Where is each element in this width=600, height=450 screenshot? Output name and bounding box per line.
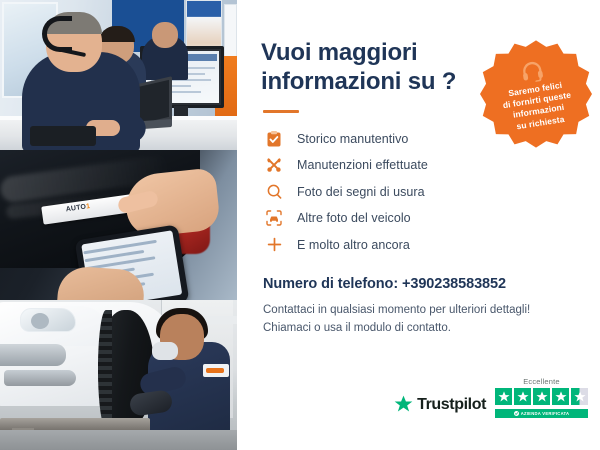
plus-icon — [263, 237, 285, 252]
call-center-photo — [0, 0, 237, 150]
star-filled — [495, 388, 512, 405]
magnifier-icon — [263, 184, 285, 199]
contact-subtext-line-1: Contattaci in qualsiasi momento per ulte… — [263, 304, 530, 316]
trustpilot-brand: Trustpilot — [394, 395, 486, 418]
trustpilot-stars — [495, 388, 588, 405]
request-info-badge: Saremo felici di fornirti queste informa… — [480, 38, 592, 150]
verified-label: AZIENDA VERIFICATA — [521, 411, 570, 416]
feature-label: Foto dei segni di usura — [297, 185, 425, 199]
feature-label: E molto altro ancora — [297, 238, 410, 252]
feature-label: Storico manutentivo — [297, 132, 408, 146]
headline-line-2: informazioni su ? — [261, 68, 456, 95]
feature-item-manutenzioni-effettuate: Manutenzioni effettuate — [263, 152, 578, 179]
page-title: Vuoi maggiori informazioni su ? — [261, 38, 466, 97]
verified-check-icon — [514, 411, 519, 416]
vehicle-sticker-photo: AUTO1 — [0, 150, 237, 300]
contact-subtext-line-2: Chiamaci o usa il modulo di contatto. — [263, 322, 451, 334]
photo-column: AUTO1 — [0, 0, 237, 450]
contact-subtext: Contattaci in qualsiasi momento per ulte… — [263, 302, 578, 338]
star-filled — [552, 388, 569, 405]
headset-icon — [519, 58, 546, 83]
headline-line-1: Vuoi maggiori — [261, 39, 418, 66]
feature-item-molto-altro: E molto altro ancora — [263, 232, 578, 259]
trustpilot-rating-label: Eccellente — [523, 377, 560, 386]
scan-car-icon — [263, 210, 285, 226]
advertisement-card: AUTO1 — [0, 0, 600, 450]
trustpilot-widget[interactable]: Trustpilot Eccellente — [394, 377, 588, 418]
star-filled — [533, 388, 550, 405]
clipboard-check-icon — [263, 131, 285, 147]
phone-number[interactable]: +390238583852 — [402, 276, 506, 292]
content-panel: Vuoi maggiori informazioni su ? Saremo f… — [237, 0, 600, 450]
trustpilot-star-icon — [394, 395, 413, 414]
title-divider — [263, 110, 299, 113]
feature-label: Manutenzioni effettuate — [297, 158, 428, 172]
star-filled — [514, 388, 531, 405]
feature-item-foto-segni-usura: Foto dei segni di usura — [263, 179, 578, 206]
tools-cross-icon — [263, 157, 285, 173]
wheel-service-photo — [0, 300, 237, 450]
phone-number-line: Numero di telefono: +390238583852 — [263, 276, 578, 292]
feature-item-altre-foto-veicolo: Altre foto del veicolo — [263, 205, 578, 232]
verified-business-badge: AZIENDA VERIFICATA — [495, 409, 588, 418]
trustpilot-rating-block: Eccellente — [495, 377, 588, 418]
trustpilot-name: Trustpilot — [417, 396, 486, 414]
star-half — [571, 388, 588, 405]
phone-label: Numero di telefono: — [263, 276, 398, 292]
feature-label: Altre foto del veicolo — [297, 211, 411, 225]
